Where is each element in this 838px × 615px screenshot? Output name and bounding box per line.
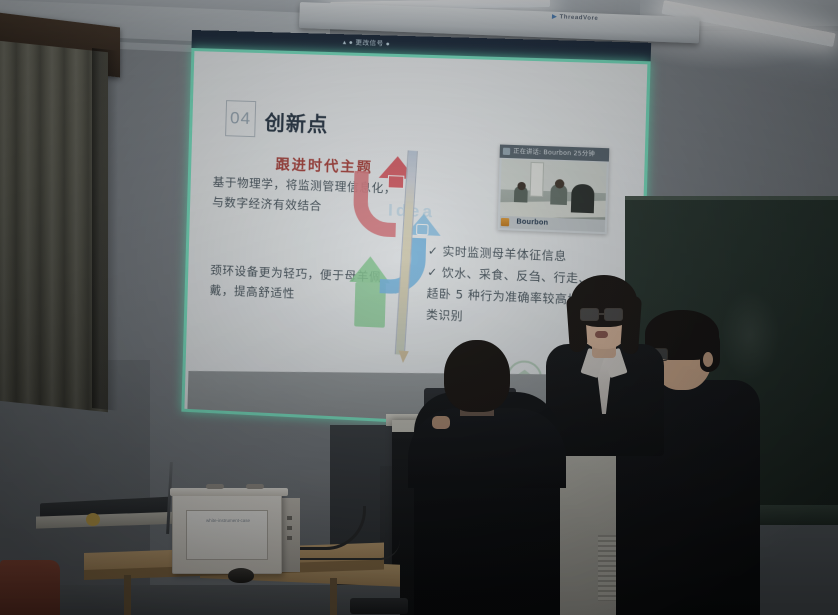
case-latch-left-icon [206,484,224,489]
attendee-back-head [444,340,510,412]
blackboard-chalk-smudge [720,290,780,380]
case-latch-right-icon [246,484,264,489]
computer-mouse[interactable] [228,568,254,583]
video-feed [500,159,607,220]
microphone-icon [503,148,510,155]
slide-section-title: 创新点 [264,106,328,137]
brand-mark-icon: ▶ [552,14,557,20]
chair-front-left [0,560,60,615]
yellow-object [86,513,100,526]
presenter-glasses-right [604,308,623,321]
floor [0,585,400,615]
presenter-glasses-bridge [599,313,604,315]
front-desk-leg-left [124,575,131,615]
attendee-back-hand [432,416,450,429]
presenter-mouth [595,331,608,338]
projector-osd-text: ▴ ● 更改信号 ● [343,36,391,48]
instrument-case-lid [170,488,288,496]
curtain-shadow [92,48,118,411]
front-desk-leg-right [330,578,337,615]
presenter-hair-left [566,295,588,352]
video-participant-label: Bourbon [500,216,605,232]
classroom-scene: ▶ ThreadVore ▴ ● 更改信号 ● 04 创新点 跟进时代主题 基于… [0,0,838,615]
device-cable-secondary [290,540,400,560]
blue-triangle-inner-icon [416,224,429,236]
video-room-door [530,162,544,197]
attendee-right-ear [703,352,713,367]
pencil-tip-icon [398,350,409,363]
speaker-icon [501,218,510,226]
instrument-buttons[interactable] [287,516,292,546]
slide-section-number: 04 [225,100,256,137]
red-house-body-icon [388,175,405,189]
instrument-display-text: white-instrument-case [196,518,260,524]
video-conference-window[interactable]: 正在讲话: Bourbon 25分钟 Bourbon [498,145,610,235]
presenter-glasses-left [580,308,599,321]
smartphone[interactable] [350,598,408,614]
video-person-right [571,184,595,213]
